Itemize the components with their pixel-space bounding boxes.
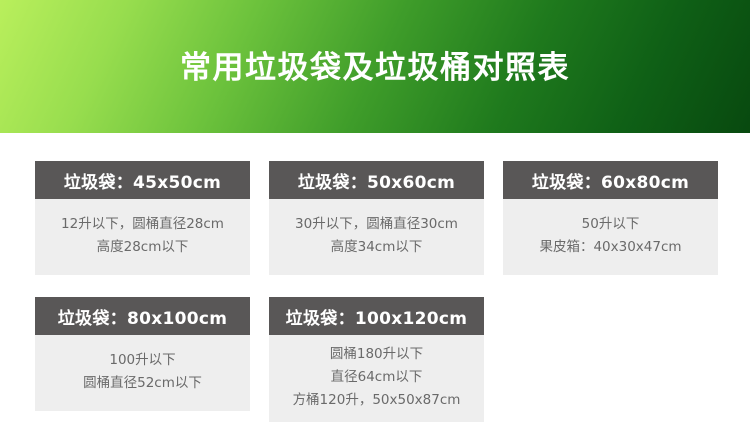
card-bag-45x50: 垃圾袋：45x50cm 12升以下，圆桶直径28cm 高度28cm以下 (35, 161, 250, 275)
card-line: 方桶120升，50x50x87cm (293, 389, 461, 412)
card-grid: 垃圾袋：45x50cm 12升以下，圆桶直径28cm 高度28cm以下 垃圾袋：… (35, 161, 725, 422)
comparison-chart-page: 常用垃圾袋及垃圾桶对照表 垃圾袋：45x50cm 12升以下，圆桶直径28cm … (0, 0, 750, 443)
card-line: 高度34cm以下 (331, 236, 423, 259)
card-header-bag-50x60: 垃圾袋：50x60cm (269, 161, 484, 199)
card-line: 50升以下 (582, 213, 640, 236)
card-line: 直径64cm以下 (331, 366, 423, 389)
card-line: 100升以下 (109, 349, 175, 372)
card-bag-50x60: 垃圾袋：50x60cm 30升以下，圆桶直径30cm 高度34cm以下 (269, 161, 484, 275)
card-line: 圆桶180升以下 (330, 343, 423, 366)
card-header-bag-80x100: 垃圾袋：80x100cm (35, 297, 250, 335)
card-header-bag-45x50: 垃圾袋：45x50cm (35, 161, 250, 199)
card-line: 圆桶直径52cm以下 (83, 372, 202, 395)
card-row-2: 垃圾袋：80x100cm 100升以下 圆桶直径52cm以下 垃圾袋：100x1… (35, 297, 725, 422)
card-bag-100x120: 垃圾袋：100x120cm 圆桶180升以下 直径64cm以下 方桶120升，5… (269, 297, 484, 422)
card-line: 果皮箱：40x30x47cm (539, 236, 681, 259)
page-title: 常用垃圾袋及垃圾桶对照表 (0, 0, 750, 133)
card-body-bag-60x80: 50升以下 果皮箱：40x30x47cm (503, 199, 718, 275)
card-header-bag-100x120: 垃圾袋：100x120cm (269, 297, 484, 335)
card-body-bag-100x120: 圆桶180升以下 直径64cm以下 方桶120升，50x50x87cm (269, 335, 484, 422)
card-line: 12升以下，圆桶直径28cm (61, 213, 224, 236)
card-bag-60x80: 垃圾袋：60x80cm 50升以下 果皮箱：40x30x47cm (503, 161, 718, 275)
card-row-1: 垃圾袋：45x50cm 12升以下，圆桶直径28cm 高度28cm以下 垃圾袋：… (35, 161, 725, 275)
card-line: 高度28cm以下 (97, 236, 189, 259)
card-body-bag-80x100: 100升以下 圆桶直径52cm以下 (35, 335, 250, 411)
card-body-bag-45x50: 12升以下，圆桶直径28cm 高度28cm以下 (35, 199, 250, 275)
card-body-bag-50x60: 30升以下，圆桶直径30cm 高度34cm以下 (269, 199, 484, 275)
header-banner: 常用垃圾袋及垃圾桶对照表 (0, 0, 750, 133)
card-bag-80x100: 垃圾袋：80x100cm 100升以下 圆桶直径52cm以下 (35, 297, 250, 422)
card-line: 30升以下，圆桶直径30cm (295, 213, 458, 236)
card-header-bag-60x80: 垃圾袋：60x80cm (503, 161, 718, 199)
